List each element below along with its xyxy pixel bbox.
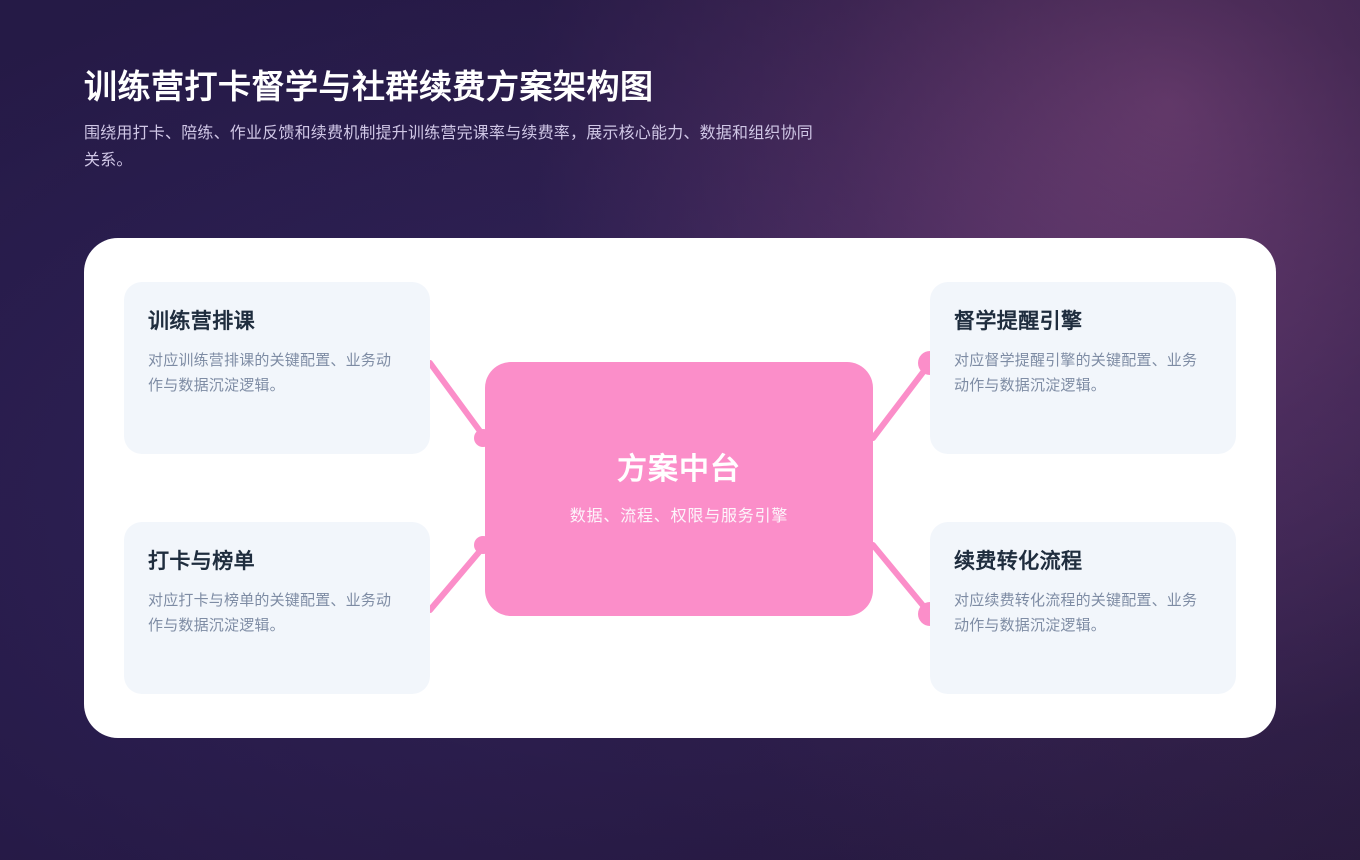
- diagram-panel: 训练营排课 对应训练营排课的关键配置、业务动作与数据沉淀逻辑。 打卡与榜单 对应…: [84, 238, 1276, 738]
- card-title: 续费转化流程: [954, 548, 1212, 575]
- card-training-camp-scheduling[interactable]: 训练营排课 对应训练营排课的关键配置、业务动作与数据沉淀逻辑。: [124, 282, 430, 454]
- connector-line-hub-to-renewal-conversion-flow: [873, 545, 930, 614]
- card-supervision-reminder-engine[interactable]: 督学提醒引擎 对应督学提醒引擎的关键配置、业务动作与数据沉淀逻辑。: [930, 282, 1236, 454]
- card-title: 督学提醒引擎: [954, 308, 1212, 335]
- center-hub-node[interactable]: 方案中台 数据、流程、权限与服务引擎: [485, 362, 873, 616]
- page-title: 训练营打卡督学与社群续费方案架构图: [84, 66, 904, 107]
- card-title: 打卡与榜单: [148, 548, 406, 575]
- connector-line-hub-to-training-camp-scheduling: [430, 363, 485, 438]
- card-title: 训练营排课: [148, 308, 406, 335]
- hub-subtitle: 数据、流程、权限与服务引擎: [570, 502, 788, 526]
- page-header: 训练营打卡督学与社群续费方案架构图 围绕用打卡、陪练、作业反馈和续费机制提升训练…: [84, 66, 904, 174]
- connector-line-hub-to-supervision-reminder-engine: [873, 363, 930, 438]
- card-description: 对应督学提醒引擎的关键配置、业务动作与数据沉淀逻辑。: [954, 348, 1212, 398]
- hub-title: 方案中台: [617, 452, 741, 488]
- connector-line-hub-to-checkin-and-leaderboard: [430, 545, 485, 610]
- card-renewal-conversion-flow[interactable]: 续费转化流程 对应续费转化流程的关键配置、业务动作与数据沉淀逻辑。: [930, 522, 1236, 694]
- card-description: 对应续费转化流程的关键配置、业务动作与数据沉淀逻辑。: [954, 588, 1212, 638]
- card-checkin-and-leaderboard[interactable]: 打卡与榜单 对应打卡与榜单的关键配置、业务动作与数据沉淀逻辑。: [124, 522, 430, 694]
- card-description: 对应打卡与榜单的关键配置、业务动作与数据沉淀逻辑。: [148, 588, 406, 638]
- page-subtitle: 围绕用打卡、陪练、作业反馈和续费机制提升训练营完课率与续费率，展示核心能力、数据…: [84, 120, 829, 174]
- card-description: 对应训练营排课的关键配置、业务动作与数据沉淀逻辑。: [148, 348, 406, 398]
